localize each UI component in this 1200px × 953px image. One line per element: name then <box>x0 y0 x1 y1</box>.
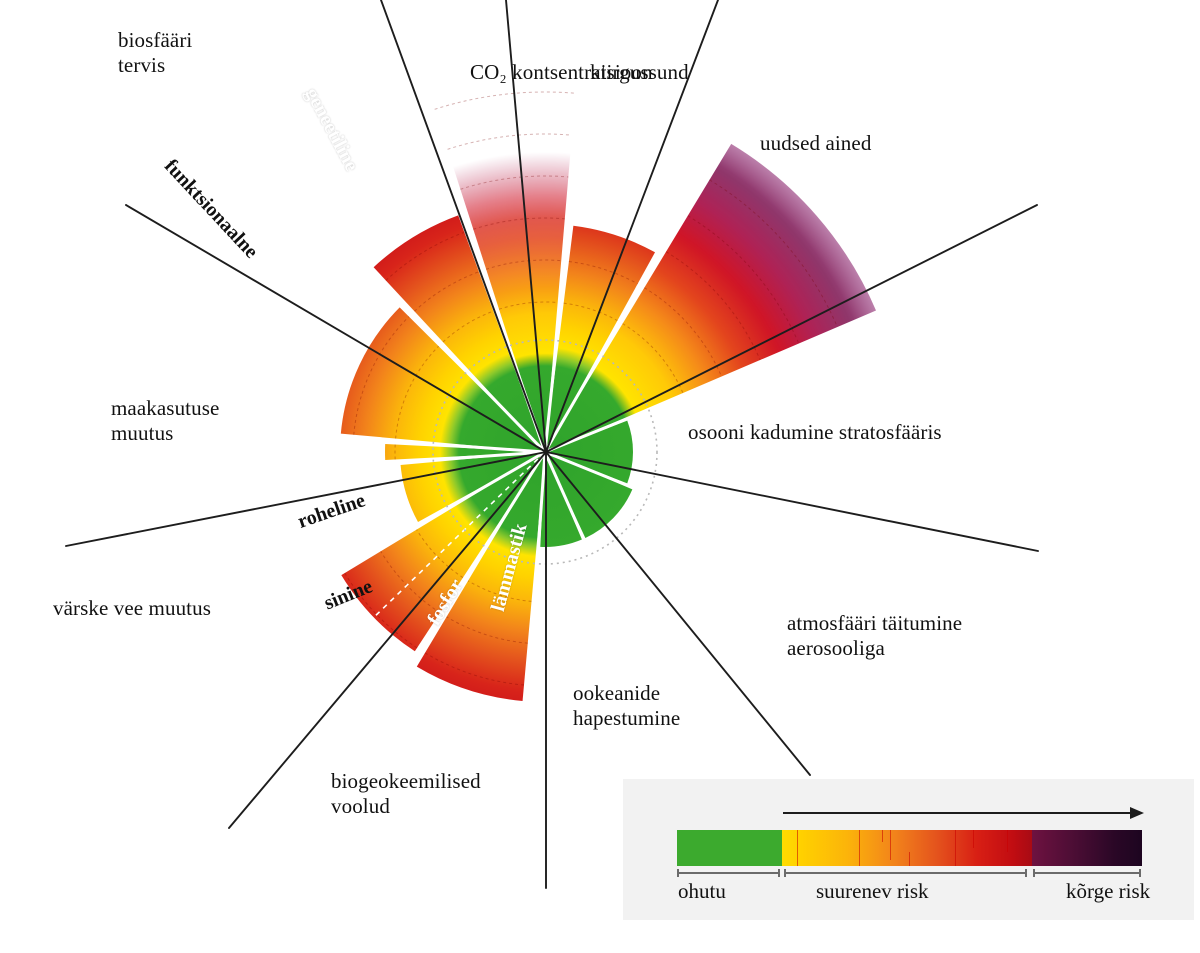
legend-label-rising: suurenev risk <box>816 879 929 904</box>
legend-rule <box>677 869 1142 877</box>
legend-segment-high <box>1032 830 1142 866</box>
legend-segment-rising <box>782 830 1032 866</box>
outer-label-radiative: kiirgussund <box>590 60 689 85</box>
outer-label-biogeochem: biogeokeemilised voolud <box>331 769 481 819</box>
outer-label-ozone: osooni kadumine stratosfääris <box>688 420 942 445</box>
outer-label-biosphere: biosfääri tervis <box>118 28 192 78</box>
outer-label-ocean: ookeanide hapestumine <box>573 681 680 731</box>
risk-legend: ohutu suurenev risk kõrge risk <box>623 779 1194 920</box>
risk-color-bar <box>677 830 1142 866</box>
leader-ozone-bottom <box>546 452 1038 551</box>
outer-label-aerosol: atmosfääri täitumine aerosooliga <box>787 611 962 661</box>
leader-novel-right <box>546 205 1037 452</box>
outer-label-freshwater: värske vee muutus <box>53 596 211 621</box>
outer-label-landuse: maakasutuse muutus <box>111 396 219 446</box>
figure-canvas: biosfääri tervisCO₂ kontsentratsioonkiir… <box>0 0 1200 953</box>
outer-label-novel: uudsed ained <box>760 131 871 156</box>
legend-label-high: kõrge risk <box>1066 879 1150 904</box>
increasing-risk-arrow-icon <box>782 806 1144 820</box>
legend-segment-safe <box>677 830 782 866</box>
legend-label-safe: ohutu <box>678 879 726 904</box>
